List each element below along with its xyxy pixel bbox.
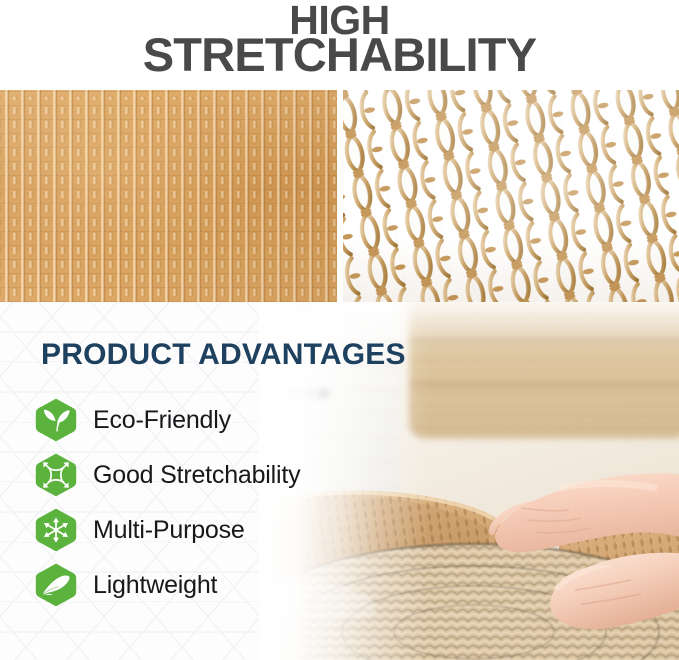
- page-title-line-2: STRETCHABILITY: [0, 30, 679, 80]
- product-infographic: HIGH STRETCHABILITY: [0, 0, 679, 660]
- list-item[interactable]: Multi-Purpose: [33, 502, 453, 557]
- title-block: HIGH STRETCHABILITY: [0, 0, 679, 90]
- leaf-sprout-icon: [33, 397, 79, 443]
- stretch-arrows-square-icon: [33, 452, 79, 498]
- list-item-label: Lightweight: [93, 571, 217, 599]
- advantages-heading: PRODUCT ADVANTAGES: [41, 338, 406, 372]
- texture-panels: [0, 90, 679, 302]
- unexpanded-kraft-honeycomb-paper-image: [0, 90, 337, 302]
- advantages-list: Eco-Friendly: [33, 392, 453, 612]
- feather-icon: [33, 562, 79, 608]
- honeycomb-mesh-pattern: [343, 90, 679, 302]
- list-item[interactable]: Lightweight: [33, 557, 453, 612]
- list-item[interactable]: Eco-Friendly: [33, 392, 453, 447]
- list-item[interactable]: Good Stretchability: [33, 447, 453, 502]
- list-item-label: Multi-Purpose: [93, 516, 245, 544]
- list-item-label: Good Stretchability: [93, 461, 300, 489]
- multi-direction-arrows-icon: [33, 507, 79, 553]
- list-item-label: Eco-Friendly: [93, 406, 231, 434]
- expanded-honeycomb-mesh-image: [343, 90, 679, 302]
